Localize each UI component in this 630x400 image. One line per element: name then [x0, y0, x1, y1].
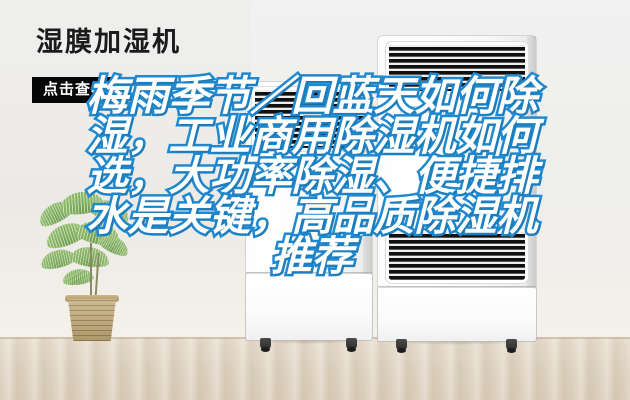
unit-caster-right-2	[506, 339, 517, 351]
unit-panel-seam-right	[378, 286, 536, 287]
promo-banner: 湿膜加湿机 点击查看 梅雨季节／回蓝天如何除湿，工业商用除湿机如何选，大功率除湿…	[0, 0, 630, 400]
page-title: 湿膜加湿机	[36, 29, 181, 56]
unit-caster-right-1	[396, 339, 407, 351]
wood-floor	[0, 337, 630, 400]
unit-caster-left-1	[260, 338, 271, 350]
unit-base-panel-right	[378, 288, 536, 341]
plant-pot	[68, 299, 116, 341]
headline-overlay: 梅雨季节／回蓝天如何除湿，工业商用除湿机如何选，大功率除湿、便捷排水是关键，高品…	[86, 76, 538, 276]
unit-base-panel-left	[246, 274, 372, 340]
unit-caster-left-2	[346, 338, 357, 350]
